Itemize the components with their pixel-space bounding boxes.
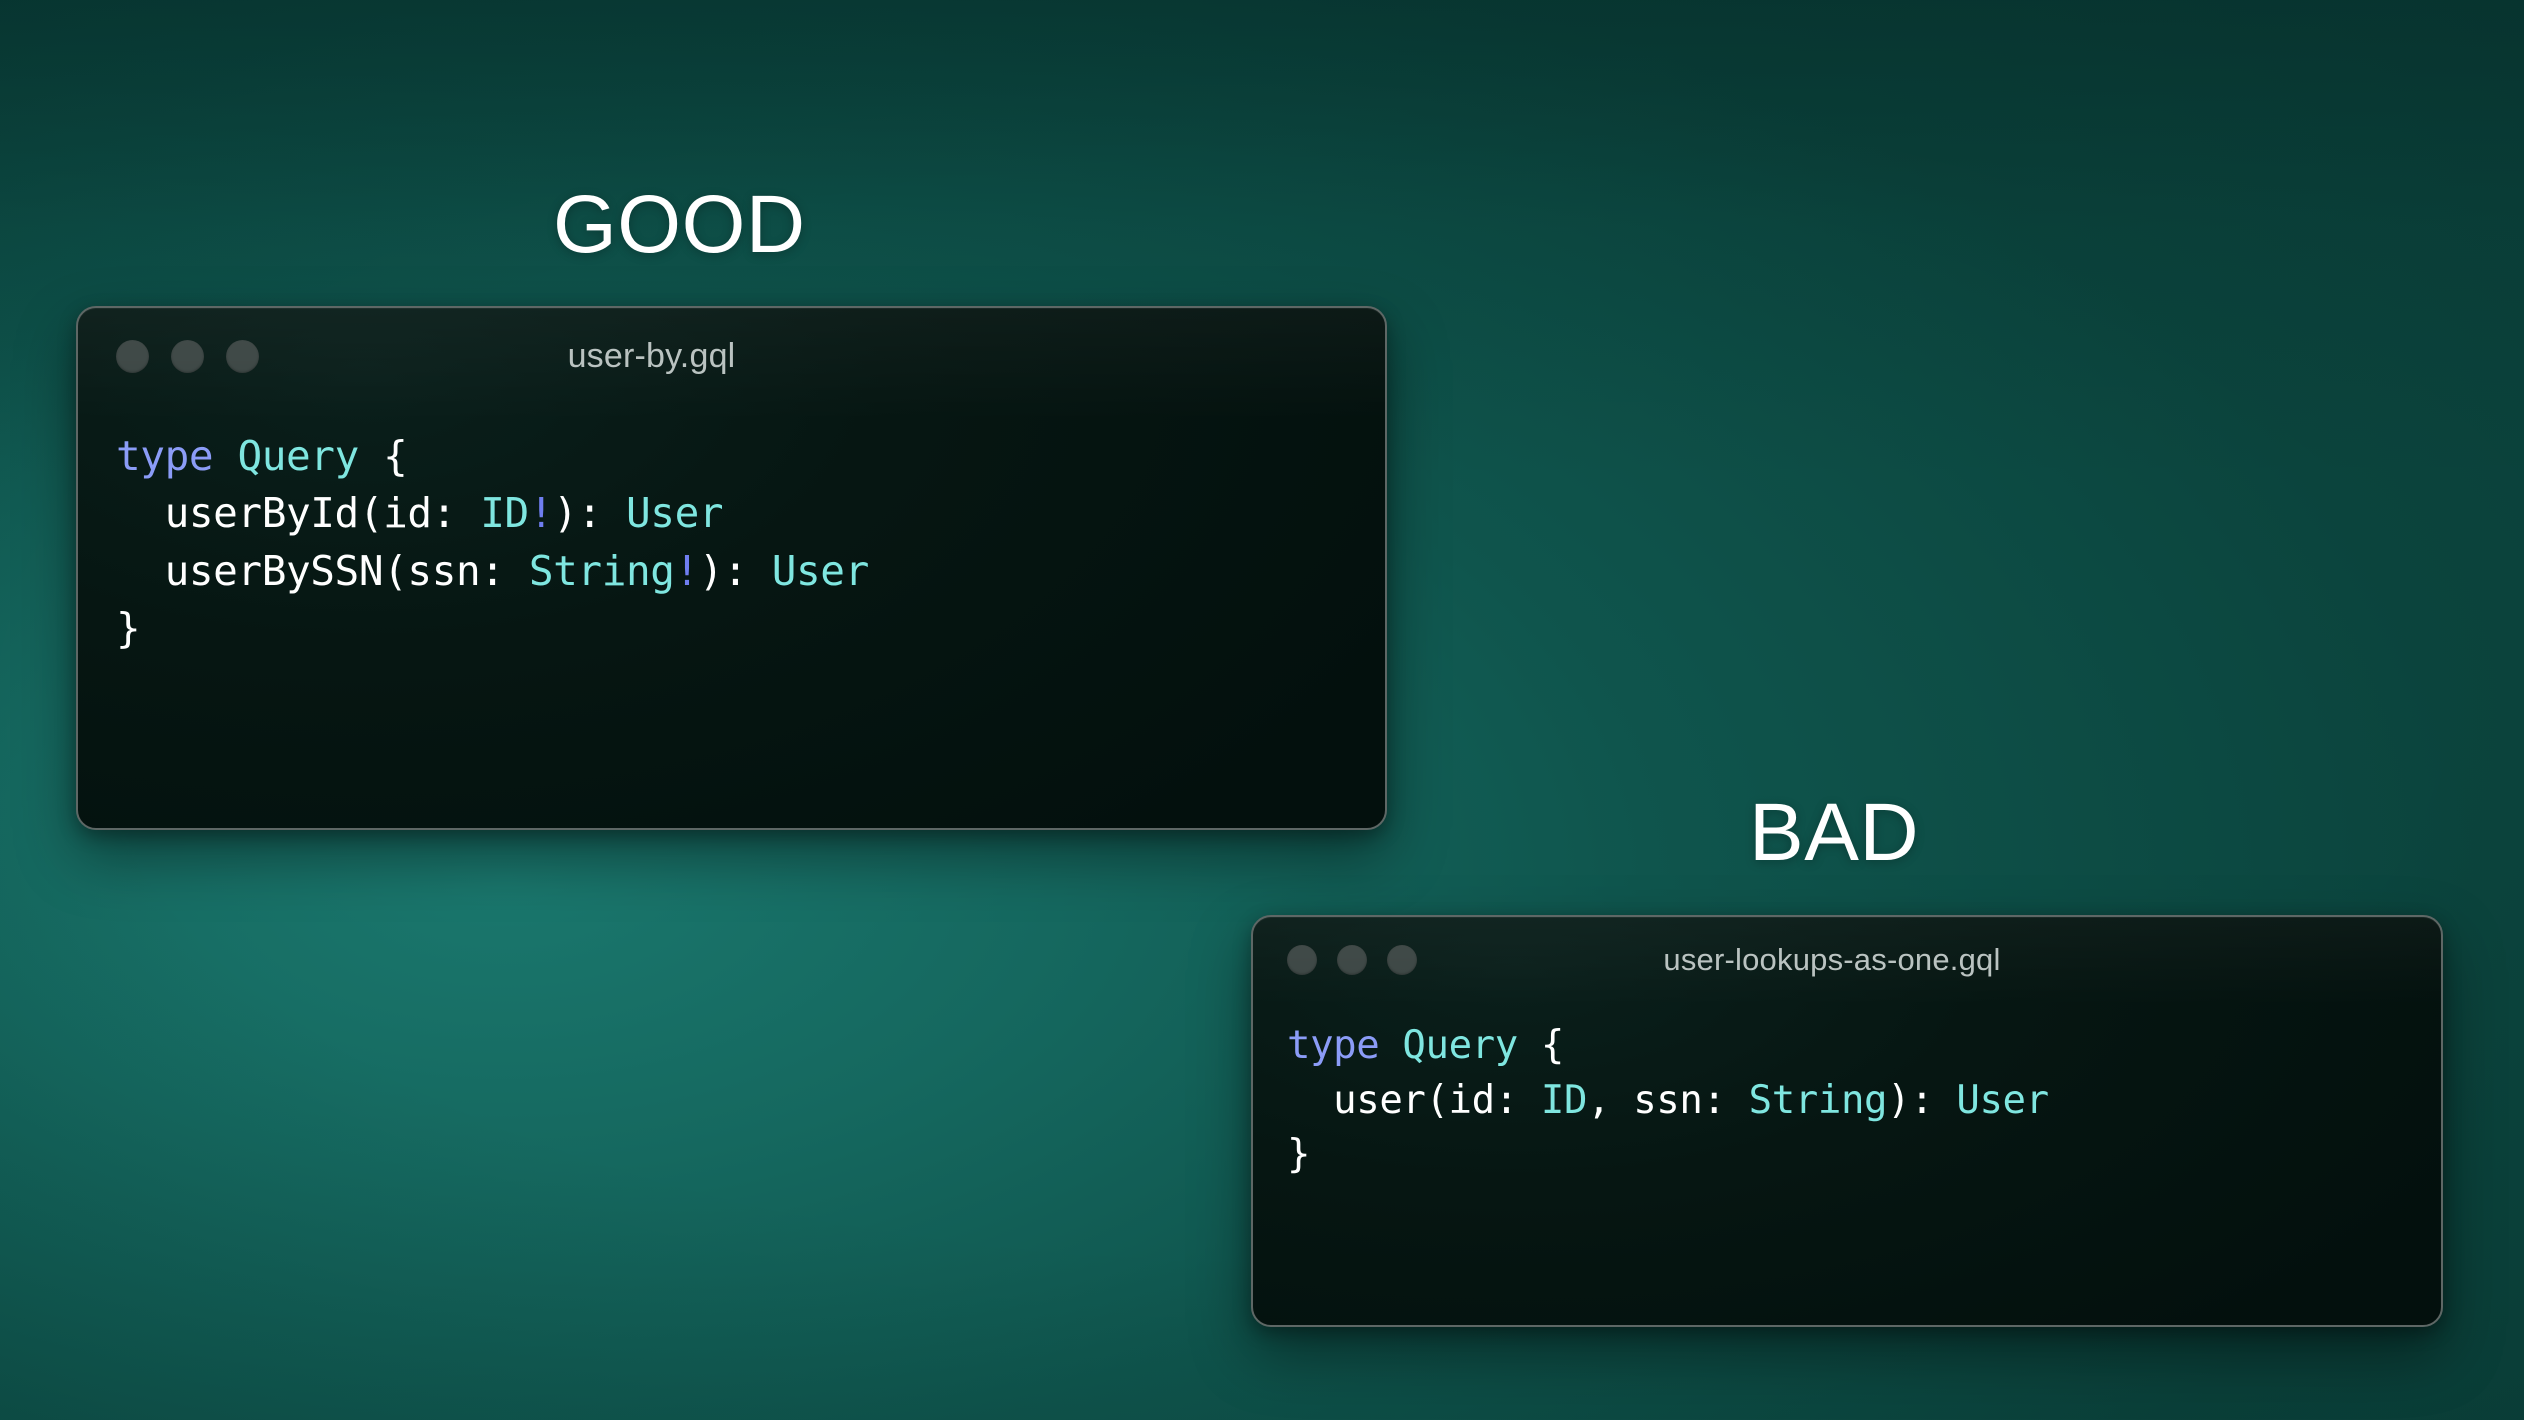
- code-token-field: userBySSN(ssn:: [116, 547, 529, 595]
- label-bad: BAD: [1749, 786, 1919, 880]
- code-line: }: [1287, 1128, 2407, 1183]
- code-token-type: Query: [1402, 1023, 1517, 1068]
- code-token-type: User: [772, 547, 869, 595]
- code-token-type: ID: [1541, 1078, 1587, 1123]
- code-token-type: User: [626, 489, 723, 537]
- traffic-light-close-icon[interactable]: [116, 340, 149, 373]
- code-line: userBySSN(ssn: String!): User: [116, 543, 1347, 600]
- code-token-punct: {: [1518, 1023, 1564, 1068]
- label-good: GOOD: [553, 178, 806, 272]
- code-line: }: [116, 600, 1347, 657]
- traffic-light-maximize-icon[interactable]: [1387, 945, 1417, 975]
- traffic-light-minimize-icon[interactable]: [171, 340, 204, 373]
- code-content-good: type Query { userById(id: ID!): User use…: [78, 404, 1385, 658]
- code-token-type: String: [529, 547, 675, 595]
- code-token-field: user(id:: [1287, 1078, 1541, 1123]
- code-token-bang: !: [675, 547, 699, 595]
- code-token-punct: ):: [699, 547, 772, 595]
- code-token-punct: {: [359, 432, 408, 480]
- code-token-type: ID: [480, 489, 529, 537]
- code-token-field: userById(id:: [116, 489, 480, 537]
- code-token-bang: !: [529, 489, 553, 537]
- code-token-punct: }: [116, 604, 140, 652]
- window-titlebar-bad[interactable]: user-lookups-as-one.gql: [1253, 917, 2441, 1003]
- code-token-punct: [213, 432, 237, 480]
- code-token-kw: type: [1287, 1023, 1379, 1068]
- code-token-punct: ):: [1887, 1078, 1956, 1123]
- code-token-punct: , ssn:: [1587, 1078, 1749, 1123]
- traffic-light-maximize-icon[interactable]: [226, 340, 259, 373]
- window-title-bad: user-lookups-as-one.gql: [1251, 942, 2426, 978]
- code-token-kw: type: [116, 432, 213, 480]
- code-token-type: Query: [237, 432, 358, 480]
- code-token-punct: }: [1287, 1132, 1310, 1177]
- code-token-punct: ):: [553, 489, 626, 537]
- code-token-type: String: [1749, 1078, 1887, 1123]
- traffic-lights-bad: [1287, 945, 1417, 975]
- traffic-light-close-icon[interactable]: [1287, 945, 1317, 975]
- code-window-good: user-by.gql type Query { userById(id: ID…: [76, 306, 1387, 830]
- code-token-punct: [1379, 1023, 1402, 1068]
- code-line: user(id: ID, ssn: String): User: [1287, 1074, 2407, 1129]
- code-window-bad: user-lookups-as-one.gql type Query { use…: [1251, 915, 2443, 1327]
- traffic-lights-good: [116, 340, 259, 373]
- code-line: type Query {: [1287, 1019, 2407, 1074]
- window-titlebar-good[interactable]: user-by.gql: [78, 308, 1385, 404]
- code-line: userById(id: ID!): User: [116, 485, 1347, 542]
- traffic-light-minimize-icon[interactable]: [1337, 945, 1367, 975]
- code-content-bad: type Query { user(id: ID, ssn: String): …: [1253, 1003, 2441, 1183]
- code-token-type: User: [1956, 1078, 2048, 1123]
- window-title-good: user-by.gql: [76, 337, 1305, 376]
- code-line: type Query {: [116, 428, 1347, 485]
